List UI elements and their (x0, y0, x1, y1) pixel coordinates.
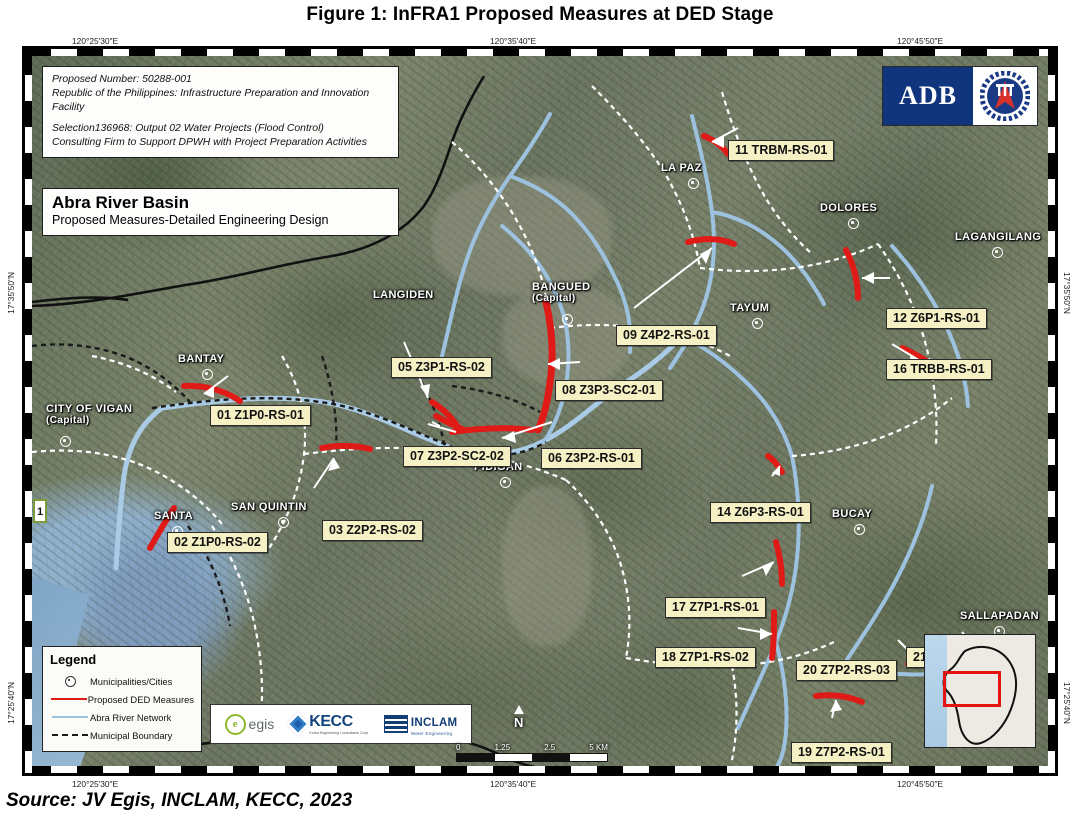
kecc-wordmark: KECC (309, 713, 352, 730)
adb-logo: ADB (883, 67, 973, 125)
measure-12 (846, 250, 858, 298)
legend-title: Legend (50, 652, 194, 667)
measure-01 (184, 386, 240, 401)
graticule-right (1048, 49, 1055, 773)
map-title-box: Abra River Basin Proposed Measures-Detai… (42, 188, 399, 236)
municipality-dot-icon (848, 218, 859, 229)
municipal-boundary-dark (32, 344, 190, 402)
municipality-dot-icon (202, 369, 213, 380)
basin-subtitle: Proposed Measures-Detailed Engineering D… (52, 213, 389, 229)
municipality-dot-icon (688, 178, 699, 189)
kecc-diamond-icon (286, 711, 311, 736)
satellite-basemap[interactable]: LA PAZ DOLORES LAGANGILANG BANGUED (Capi… (32, 56, 1048, 766)
river-bucay-main (738, 456, 799, 728)
river-tributary-dolores (712, 212, 824, 304)
measure-callout-18[interactable]: 18 Z7P1-RS-02 (655, 647, 756, 668)
river-tributary-tayum (682, 336, 792, 456)
river-sallapadan (844, 486, 932, 664)
measure-09 (688, 239, 734, 244)
inclam-logo: INCLAM Water Engineering (384, 713, 458, 736)
egis-mark-icon: e (225, 714, 246, 735)
municipal-boundary (878, 244, 937, 446)
measure-callout-01[interactable]: 01 Z1P0-RS-01 (210, 405, 311, 426)
north-arrow-triangle (514, 705, 524, 714)
scale-tick-0: 0 (456, 743, 460, 752)
measure-03 (322, 446, 370, 449)
municipality-dot-icon (500, 477, 511, 488)
measure-callout-02[interactable]: 02 Z1P0-RS-02 (167, 532, 268, 553)
red-line-icon (50, 698, 88, 701)
edge-marker: 1 (33, 499, 47, 523)
inclam-subtext: Water Engineering (411, 731, 458, 736)
map-figure[interactable]: LA PAZ DOLORES LAGANGILANG BANGUED (Capi… (22, 46, 1058, 776)
measure-19 (816, 695, 862, 702)
egis-wordmark: egis (249, 716, 275, 732)
measure-callout-12[interactable]: 12 Z6P1-RS-01 (886, 308, 987, 329)
municipality-dot-icon (992, 247, 1003, 258)
municipal-boundary (452, 142, 550, 328)
coord-bottom-2: 120°35'40"E (490, 779, 536, 789)
measure-callout-19[interactable]: 19 Z7P2-RS-01 (791, 742, 892, 763)
project-info-box: Proposed Number: 50288-001 Republic of t… (42, 66, 399, 158)
scale-bar: 0 1.25 2.5 5 KM (456, 743, 608, 762)
measure-callout-08[interactable]: 08 Z3P3-SC2-01 (555, 380, 663, 401)
logo-bar: ADB (882, 66, 1038, 126)
dpwh-seal-svg (980, 71, 1030, 121)
coord-right-1: 17°35'50"N (1062, 272, 1072, 314)
info-selection: Selection136968: Output 02 Water Project… (52, 122, 389, 136)
graticule-bottom (25, 766, 1055, 773)
coord-bottom-1: 120°25'30"E (72, 779, 118, 789)
coord-left-1: 17°35'50"N (6, 272, 16, 314)
scale-tick-3: 5 KM (589, 743, 608, 752)
graticule-top (25, 49, 1055, 56)
dashed-line-icon (50, 734, 90, 736)
coord-top-1: 120°25'30"E (72, 36, 118, 46)
municipality-dot-icon (854, 524, 865, 535)
municipal-boundary (592, 86, 700, 268)
measure-callout-06[interactable]: 06 Z3P2-RS-01 (541, 448, 642, 469)
kecc-logo: KECC Korea Engineering Consultants Corp. (289, 713, 369, 735)
legend-row-measures: Proposed DED Measures (50, 690, 194, 708)
measure-14 (768, 456, 782, 472)
locator-inset-map[interactable] (924, 634, 1036, 748)
graticule-left (25, 49, 32, 773)
municipal-boundary (732, 666, 737, 760)
municipal-boundary-dark (452, 386, 540, 412)
measure-callout-09[interactable]: 09 Z4P2-RS-01 (616, 325, 717, 346)
measure-callout-16[interactable]: 16 TRBB-RS-01 (886, 359, 992, 380)
river-tributary-north1 (442, 114, 550, 356)
municipal-boundary (92, 356, 176, 392)
inclam-bars-icon (384, 715, 408, 733)
map-legend: Legend Municipalities/Cities Proposed DE… (42, 646, 202, 752)
measure-17 (776, 542, 782, 584)
municipality-dot-icon (278, 517, 289, 528)
measure-callout-05[interactable]: 05 Z3P1-RS-02 (391, 357, 492, 378)
egis-logo: e egis (225, 714, 275, 735)
north-arrow-label: N (514, 715, 523, 730)
coord-top-2: 120°35'40"E (490, 36, 536, 46)
dpwh-seal-icon (973, 67, 1037, 125)
measure-11 (704, 136, 728, 154)
inset-extent-box (943, 671, 1001, 707)
scale-tick-1: 1.25 (495, 743, 511, 752)
scale-bar-ticks: 0 1.25 2.5 5 KM (456, 743, 608, 752)
inclam-wordmark: INCLAM (411, 717, 458, 729)
municipal-boundary (792, 398, 952, 456)
basin-name: Abra River Basin (52, 193, 389, 213)
legend-row-boundary: Municipal Boundary (50, 726, 194, 744)
info-project-title: Republic of the Philippines: Infrastruct… (52, 87, 389, 115)
municipality-dot-icon (562, 314, 573, 325)
coord-right-2: 17°25'40"N (1062, 682, 1072, 724)
measure-callout-03[interactable]: 03 Z2P2-RS-02 (322, 520, 423, 541)
blue-line-icon (50, 716, 90, 718)
measure-callout-20[interactable]: 20 Z7P2-RS-03 (796, 660, 897, 681)
partner-logo-bar: e egis KECC Korea Engineering Consultant… (210, 704, 472, 744)
measure-callout-11[interactable]: 11 TRBM-RS-01 (728, 140, 834, 161)
municipal-boundary (566, 480, 629, 658)
measure-callout-07[interactable]: 07 Z3P2-SC2-02 (403, 446, 511, 467)
legend-label: Abra River Network (90, 712, 171, 723)
page-title: Figure 1: InFRA1 Proposed Measures at DE… (0, 4, 1080, 26)
north-arrow-icon: N (514, 705, 524, 730)
source-caption: Source: JV Egis, INCLAM, KECC, 2023 (6, 790, 352, 812)
measure-callout-14[interactable]: 14 Z6P3-RS-01 (710, 502, 811, 523)
kecc-subtext: Korea Engineering Consultants Corp. (309, 731, 369, 735)
scale-tick-2: 2.5 (544, 743, 555, 752)
coord-top-3: 120°45'50"E (897, 36, 943, 46)
legend-label: Proposed DED Measures (88, 694, 194, 705)
legend-row-municipalities: Municipalities/Cities (50, 672, 194, 690)
scale-bar-segments (456, 753, 608, 762)
info-consulting: Consulting Firm to Support DPWH with Pro… (52, 136, 389, 150)
legend-row-river: Abra River Network (50, 708, 194, 726)
coord-bottom-3: 120°45'50"E (897, 779, 943, 789)
legend-label: Municipalities/Cities (90, 676, 172, 687)
measure-callout-17[interactable]: 17 Z7P1-RS-01 (665, 597, 766, 618)
municipality-dot-icon (752, 318, 763, 329)
info-proposed-number: Proposed Number: 50288-001 (52, 73, 389, 87)
coord-left-2: 17°25'40"N (6, 682, 16, 724)
municipal-boundary (722, 92, 812, 254)
info-spacer (52, 115, 389, 122)
measure-18 (772, 612, 774, 658)
municipality-dot-icon (60, 436, 71, 447)
legend-label: Municipal Boundary (90, 730, 172, 741)
municipal-boundary (212, 526, 262, 726)
municipality-dot-icon (50, 676, 90, 687)
